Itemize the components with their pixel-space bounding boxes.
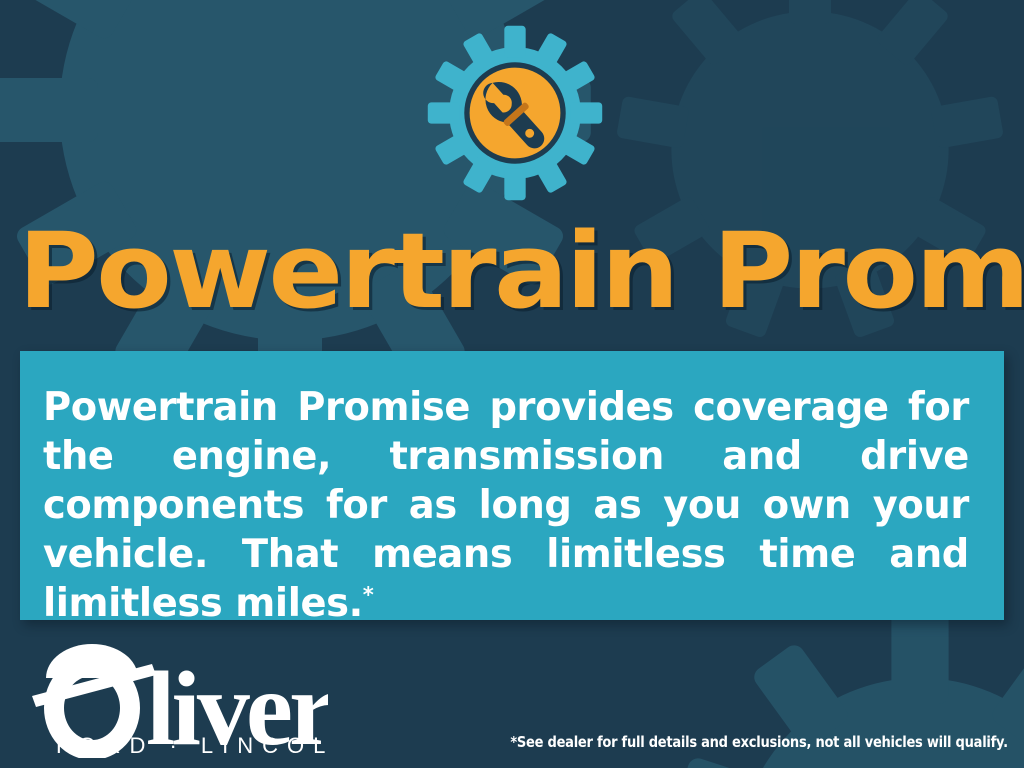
promise-description-panel: Powertrain Promise provides coverage for… (20, 351, 1004, 620)
page-title: Powertrain Promise (18, 215, 1024, 327)
oliver-ford-lincoln-logo: liver FORD · LINCOLN Oliver FORD · LINCO… (28, 640, 328, 758)
footnote-marker: * (363, 583, 374, 608)
disclaimer-text: *See dealer for full details and exclusi… (511, 733, 1008, 752)
promise-description-text: Powertrain Promise provides coverage for… (43, 383, 969, 628)
gear-wrench-icon (425, 24, 605, 202)
poster-canvas: Powertrain Promise Powertrain Promise pr… (0, 0, 1024, 768)
logo-subtitle: FORD · LINCOLN (56, 733, 328, 758)
